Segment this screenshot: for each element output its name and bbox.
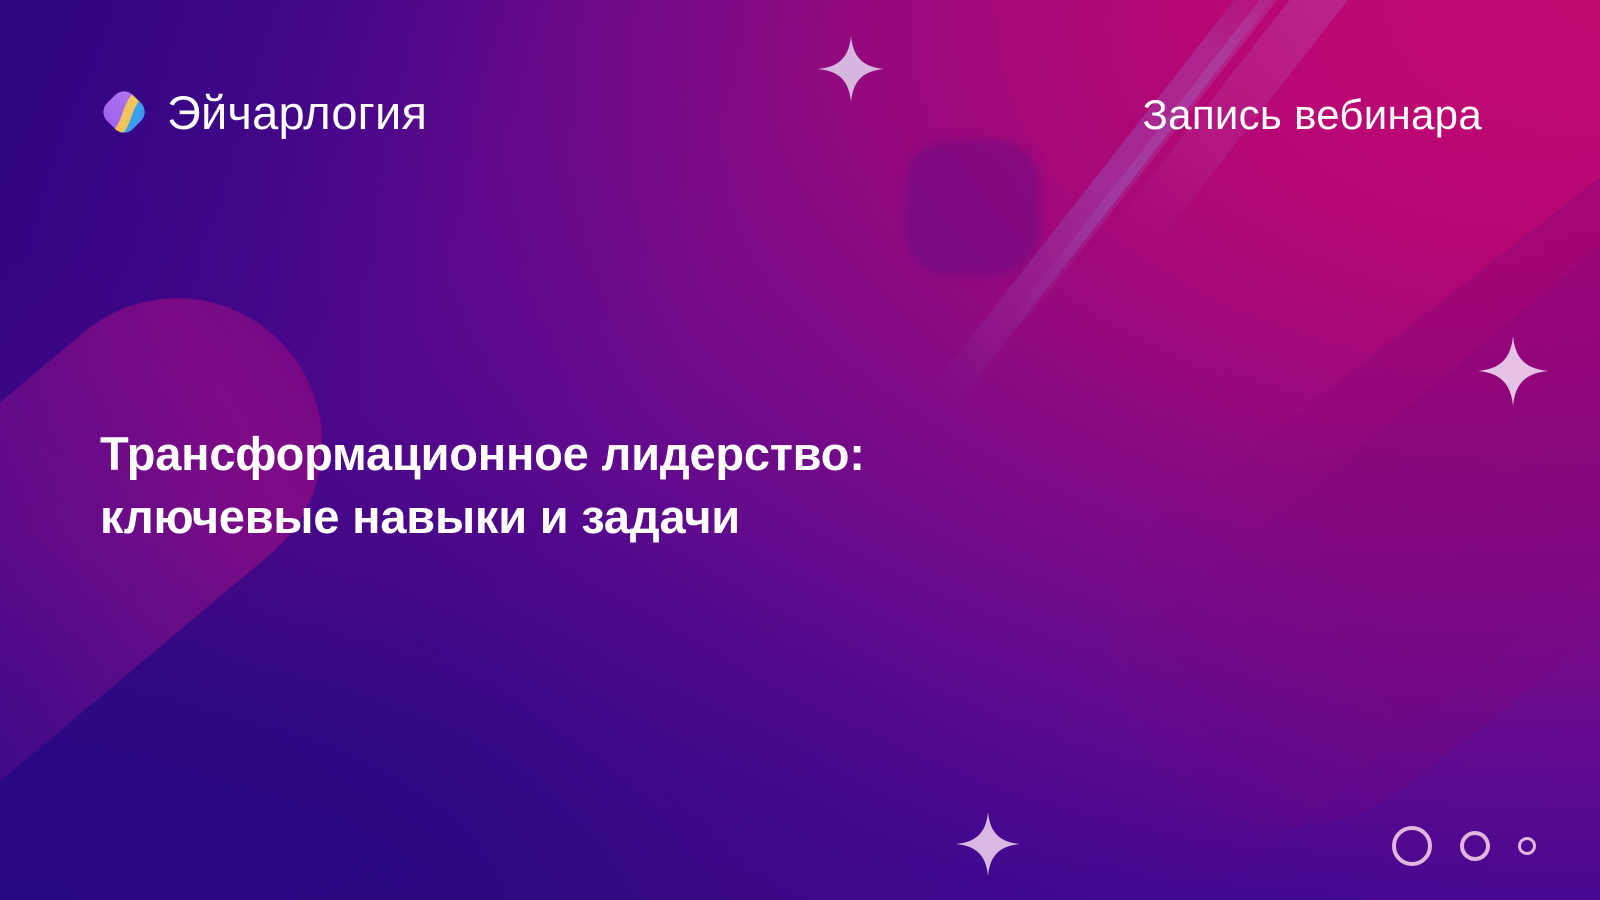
ring-medium-icon: [1460, 831, 1490, 861]
brand-name-text: Эйчарлогия: [167, 89, 427, 136]
webinar-recording-label: Запись вебинара: [1143, 92, 1483, 138]
sparkle-right-icon: [1478, 336, 1548, 406]
brand-lockup[interactable]: Эйчарлогия: [100, 88, 427, 136]
brand-logo-icon: [100, 88, 148, 136]
slide-title: Трансформационное лидерство: ключевые на…: [100, 423, 1180, 547]
sparkle-top-icon: [818, 36, 884, 102]
ring-large-icon: [1392, 826, 1432, 866]
sparkle-bottom-icon: [956, 812, 1020, 876]
decorative-rings-group: [1392, 826, 1536, 866]
ring-small-icon: [1518, 837, 1536, 855]
webinar-title-slide: Эйчарлогия Запись вебинара Трансформацио…: [0, 0, 1600, 900]
